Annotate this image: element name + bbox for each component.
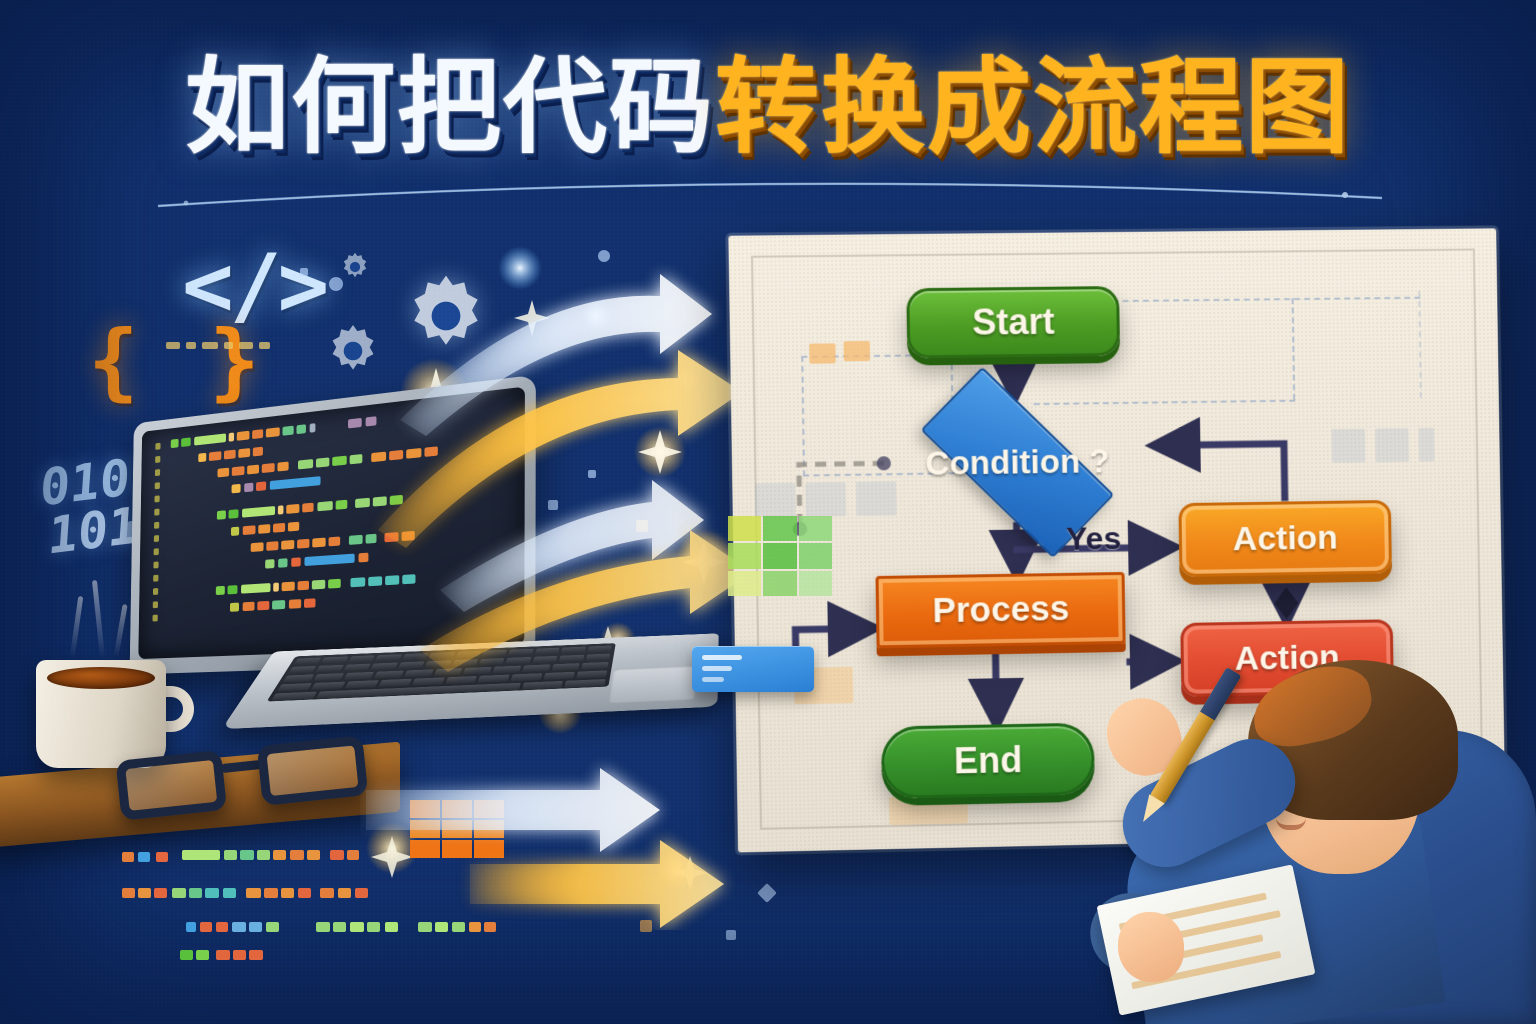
blue-card-widget: [692, 646, 814, 692]
coffee-surface: [47, 667, 155, 689]
hand-holding-pencil: [1098, 689, 1191, 785]
flow-edge-label-yes: Yes: [1066, 520, 1122, 558]
laptop-screen: [138, 387, 525, 660]
poster-canvas: 如何把代码转换成流程图 </> { } 0101 1010: [0, 0, 1536, 1024]
page-title: 如何把代码转换成流程图: [0, 52, 1536, 162]
flow-node-end[interactable]: End: [881, 723, 1095, 799]
title-orange-part: 转换成流程图: [715, 46, 1351, 168]
glasses-lens-right: [257, 735, 369, 806]
gear-icon: [338, 250, 372, 284]
gear-icon: [322, 320, 384, 382]
flow-node-start[interactable]: Start: [906, 286, 1120, 359]
steam-icon: [70, 596, 84, 658]
code-blocks: [138, 387, 525, 660]
title-white-part: 如何把代码: [185, 46, 715, 168]
keyboard: [267, 643, 616, 701]
hand-holding-notebook: [1118, 912, 1184, 982]
trackpad: [608, 665, 697, 703]
orange-grid-block: [410, 800, 504, 858]
title-underline-swoosh: [150, 172, 1390, 216]
laptop-lid: [130, 375, 536, 675]
glasses-lens-left: [115, 750, 227, 821]
boy-pointing-at-flowchart: [1072, 612, 1536, 1024]
flow-node-action-1-label: Action: [1233, 518, 1339, 559]
flow-node-action-1[interactable]: Action: [1178, 500, 1392, 577]
glasses-bridge: [220, 760, 263, 773]
flow-node-process-label: Process: [932, 589, 1069, 631]
code-stream-bottom: [120, 836, 740, 986]
green-grid-block: [728, 516, 832, 596]
flow-node-condition[interactable]: Condition ?: [885, 398, 1150, 528]
flow-node-end-label: End: [954, 739, 1023, 782]
gear-icon: [398, 268, 494, 364]
curly-brace-icon: { }: [88, 312, 270, 410]
flow-node-start-label: Start: [972, 301, 1055, 344]
